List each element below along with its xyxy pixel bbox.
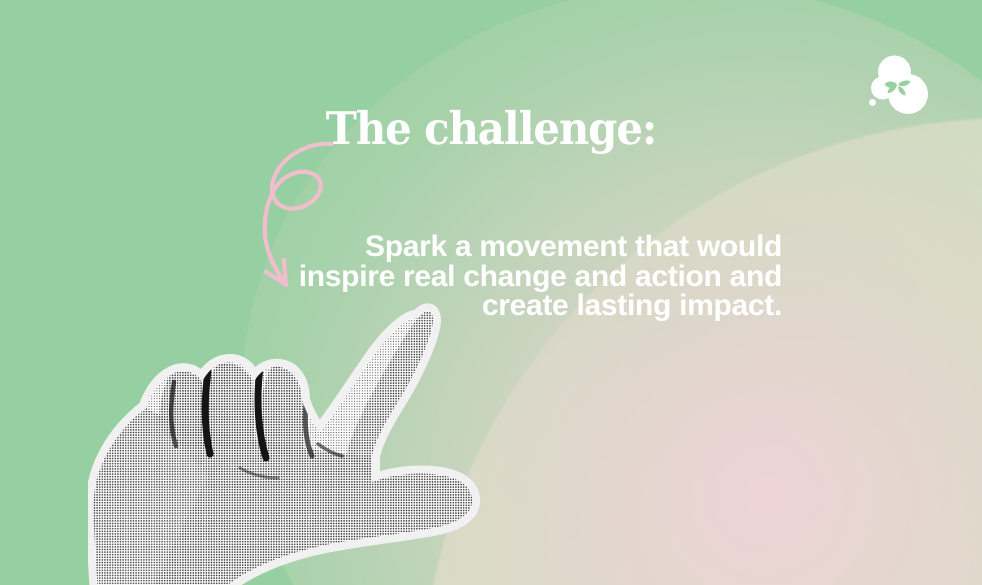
slide-canvas: The challenge: Spark a movement that wou…: [0, 0, 982, 585]
page-title-text: The challenge:: [326, 106, 656, 151]
body-copy-line-1: Spark a movement that would: [282, 232, 782, 262]
halftone-pointing-hand: [88, 296, 508, 585]
page-title: The challenge:: [34, 106, 947, 151]
body-copy-line-2: inspire real change and action and: [282, 262, 782, 292]
